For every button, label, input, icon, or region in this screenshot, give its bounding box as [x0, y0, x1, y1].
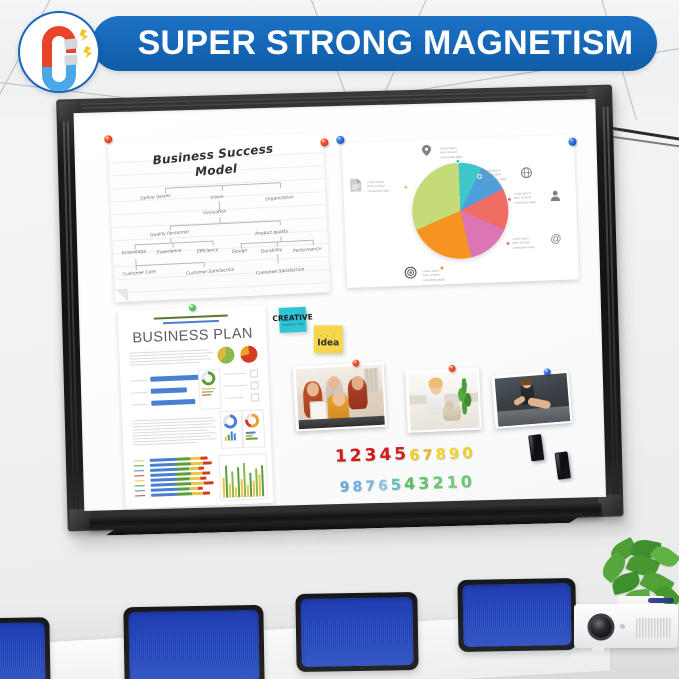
- magnetic-numbers-row-2[interactable]: 9876543210: [339, 474, 472, 495]
- photo-fitness-image: [494, 373, 570, 427]
- magnetic-number-0[interactable]: 0: [462, 446, 473, 461]
- magnetic-number-7[interactable]: 7: [365, 479, 375, 493]
- office-chair-1: [0, 617, 51, 679]
- business-plan-poster[interactable]: BUSINESS PLAN: [118, 305, 274, 509]
- stacked-bar-chart: [150, 456, 216, 501]
- magnetic-number-9[interactable]: 9: [448, 446, 459, 461]
- hbar-1: [150, 375, 202, 382]
- pie-callout-magenta: Lorem ipsumdolor sit ametconsectetur adi…: [512, 236, 534, 250]
- document-icon: [350, 178, 361, 191]
- photo-fitness[interactable]: [491, 370, 572, 429]
- paper-dog-ear: [115, 289, 129, 303]
- histogram-card: [219, 453, 269, 501]
- checkbox-2[interactable]: [251, 381, 259, 389]
- sticky-idea-text: Idea: [317, 338, 339, 348]
- magnetic-number-3[interactable]: 3: [418, 475, 430, 491]
- frame-corner-bracket: [598, 494, 622, 515]
- magnetic-number-8[interactable]: 8: [352, 480, 362, 494]
- magnetic-number-6[interactable]: 6: [378, 479, 388, 493]
- target-icon: [404, 266, 416, 278]
- magnetic-number-1[interactable]: 1: [446, 474, 458, 490]
- node-innovation: Innovation: [203, 209, 227, 216]
- bar-magnet-right[interactable]: [555, 451, 571, 479]
- bar-magnet-left[interactable]: [528, 434, 544, 461]
- checkbox-3[interactable]: [251, 393, 259, 401]
- headline-text: SUPER STRONG MAGNETISM: [92, 16, 657, 71]
- node-vision: Vision: [210, 195, 224, 201]
- photo-family-image: [295, 364, 384, 428]
- bottom-legend: [134, 460, 148, 500]
- photo-child-dog-image: [408, 370, 479, 430]
- magnetic-number-5[interactable]: 5: [390, 477, 401, 492]
- person-icon: [550, 190, 561, 201]
- location-pin-icon: [422, 145, 431, 156]
- sticky-note-creative[interactable]: CREATIVE magnetic note: [279, 307, 307, 333]
- magnetic-whiteboard[interactable]: Business Success Model Define Values Vis…: [56, 85, 624, 540]
- magnetic-number-0[interactable]: 0: [460, 474, 472, 490]
- pie-legend-dot-green: [403, 185, 409, 191]
- round-magnet-blue[interactable]: [336, 136, 344, 144]
- pie-callout-orange: Lorem ipsumdolor sit ametconsectetur adi…: [422, 268, 444, 282]
- magnetic-number-4[interactable]: 4: [404, 476, 416, 492]
- pie-callout-coral: Lorem ipsumdolor sit ametconsectetur adi…: [514, 191, 536, 205]
- round-magnet-blue[interactable]: [568, 138, 576, 146]
- photo-child-dog[interactable]: [405, 368, 482, 433]
- projector-sensor: [620, 624, 625, 629]
- node-design: Design: [232, 249, 248, 255]
- round-magnet-red[interactable]: [320, 138, 328, 146]
- magnetic-number-7[interactable]: 7: [422, 448, 432, 462]
- mini-pie-b: [240, 345, 258, 363]
- magnetic-numbers-row-1[interactable]: 1234567890: [335, 444, 473, 466]
- checkbox-1[interactable]: [250, 369, 258, 377]
- poster-title: BUSINESS PLAN: [118, 325, 267, 347]
- office-chair-4: [457, 578, 576, 652]
- node-organization: Organization: [265, 195, 293, 202]
- sticky-creative-sub: magnetic note: [273, 321, 314, 327]
- hbar-3: [151, 399, 195, 406]
- node-performance: Performance: [293, 247, 321, 254]
- node-efficiency: Efficiency: [197, 248, 219, 255]
- pie-callout-green: Lorem ipsumdolor sit ametconsectetur adi…: [367, 179, 389, 193]
- chair-mesh: [0, 622, 46, 679]
- globe-icon: [521, 167, 532, 178]
- magnetic-number-1[interactable]: 1: [335, 448, 347, 465]
- magnetic-number-6[interactable]: 6: [409, 448, 420, 463]
- node-customer-care: Customer Care: [123, 270, 156, 278]
- whiteboard-surface[interactable]: Business Success Model Define Values Vis…: [74, 99, 607, 511]
- at-sign-icon: @: [550, 234, 562, 245]
- node-product-quality: Product quality: [255, 229, 289, 237]
- magnetic-number-9[interactable]: 9: [340, 480, 350, 494]
- magnetic-number-3[interactable]: 3: [364, 447, 376, 464]
- magnetic-number-5[interactable]: 5: [394, 446, 406, 463]
- magnetic-number-4[interactable]: 4: [379, 447, 391, 464]
- title-rule-under: [163, 320, 219, 324]
- headline-banner: SUPER STRONG MAGNETISM: [92, 16, 657, 71]
- magnetic-number-2[interactable]: 2: [349, 448, 361, 465]
- pie-legend-dot-magenta: [505, 241, 511, 247]
- office-chair-2: [123, 605, 264, 679]
- magnetic-number-8[interactable]: 8: [435, 447, 446, 462]
- magnetic-number-2[interactable]: 2: [432, 475, 444, 491]
- product-marketing-image: SUPER STRONG MAGNETISM: [0, 0, 679, 679]
- office-chair-3: [295, 592, 418, 672]
- pie-callout-blue: Lorem ipsumdolor sit ametconsectetur adi…: [484, 168, 506, 182]
- pie-callout-teal: Lorem ipsumdolor sit ametconsectetur adi…: [440, 146, 462, 160]
- node-experience: Experience: [157, 249, 182, 256]
- projector-lens: [590, 616, 612, 638]
- title-rule-top: [154, 315, 228, 320]
- chair-mesh: [128, 610, 259, 679]
- sticky-note-idea[interactable]: ^ ^ ^ Idea: [314, 325, 343, 353]
- projector-foot: [592, 646, 604, 655]
- sheet-title-line2: Model: [195, 162, 238, 179]
- projector-cable: [648, 598, 674, 603]
- business-success-model-sheet[interactable]: Business Success Model Define Values Vis…: [108, 132, 330, 302]
- node-customer-satisfaction-2: Customer Satisfaction: [256, 267, 305, 276]
- hbar-2: [151, 387, 187, 393]
- node-define-values: Define Values: [140, 194, 171, 202]
- chair-mesh: [462, 583, 571, 647]
- node-durability: Durability: [261, 248, 283, 255]
- magnet-svg: [20, 13, 98, 91]
- horseshoe-magnet-icon: [18, 11, 100, 93]
- pie-legend-dot-coral: [507, 197, 513, 203]
- pie-chart-sheet[interactable]: Lorem ipsumdolor sit ametconsectetur adi…: [342, 134, 579, 288]
- projector-vent: [636, 618, 672, 638]
- photo-family[interactable]: [293, 362, 387, 432]
- node-knowledge: Knowledge: [122, 249, 146, 256]
- mini-pie-a: [217, 346, 235, 364]
- chair-mesh: [300, 597, 413, 667]
- projector: [574, 604, 678, 648]
